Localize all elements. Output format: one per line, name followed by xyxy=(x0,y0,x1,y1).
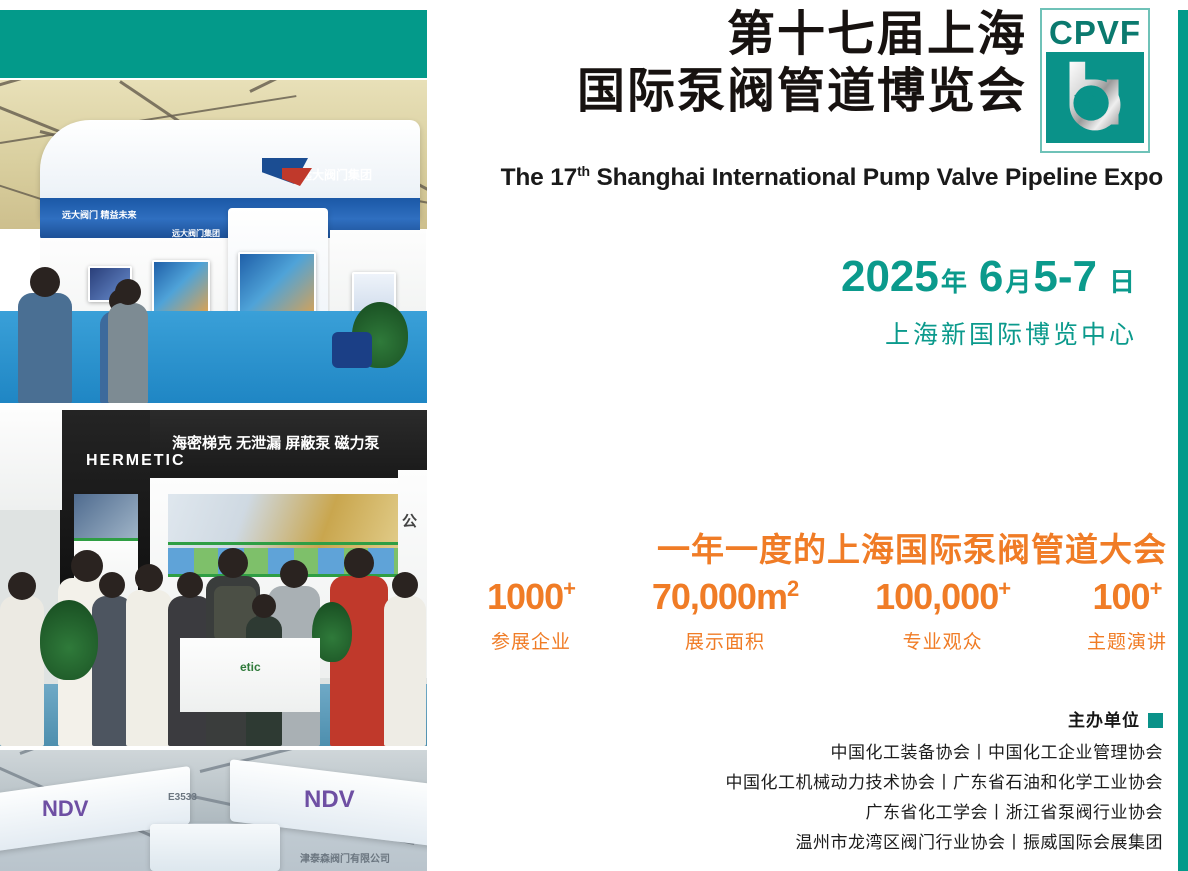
hermetic-cn-slogan: 海密梯克 无泄漏 屏蔽泵 磁力泵 xyxy=(172,435,380,452)
stat-suffix: + xyxy=(998,576,1010,601)
date-year-unit: 年 xyxy=(939,267,969,297)
content-column: CPVF xyxy=(427,0,1188,871)
photo-hermetic-booth: HERMETIC 海密梯克 无泄漏 屏蔽泵 磁力泵 公 xyxy=(0,410,427,746)
stat-talks: 100+ 主题演讲 xyxy=(1087,578,1167,654)
en-ordinal: th xyxy=(577,163,590,179)
stat-value: 1000 xyxy=(487,576,563,617)
organizer-line: 广东省化工学会丨浙江省泵阀行业协会 xyxy=(427,798,1163,828)
cpvf-logo: CPVF xyxy=(1040,8,1150,153)
date-year: 2025 xyxy=(841,252,939,301)
page-title: 第十七届上海 国际泵阀管道博览会 xyxy=(427,6,1027,119)
stat-superscript: 2 xyxy=(787,576,798,601)
stat-value: 70,000 xyxy=(652,576,756,617)
cpvf-wordmark: CPVF xyxy=(1046,14,1144,52)
photo-yuanda-valve-booth: 远大阀门集团 远大阀门 精益未来 远大阀门集团 xyxy=(0,80,427,403)
title-line-1: 第十七届上海 xyxy=(427,6,1027,63)
cpvf-mark xyxy=(1046,52,1144,143)
photo-column: 远大阀门集团 远大阀门 精益未来 远大阀门集团 xyxy=(0,0,427,871)
stat-value: 100 xyxy=(1092,576,1149,617)
stat-suffix: + xyxy=(1150,576,1162,601)
organizers-heading: 主办单位 xyxy=(427,706,1163,731)
stat-label: 专业观众 xyxy=(875,627,1010,654)
event-venue: 上海新国际博览中心 xyxy=(427,315,1137,351)
expo-poster: 远大阀门集团 远大阀门 精益未来 远大阀门集团 xyxy=(0,0,1188,871)
stat-label: 展示面积 xyxy=(652,627,798,654)
photo-ndv-booth: NDV NDV E3533 津泰森阀门有限公司 xyxy=(0,750,427,871)
date-day-unit: 日 xyxy=(1107,267,1137,297)
date-month: 6 xyxy=(979,252,1003,301)
stat-area: 70,000m2 展示面积 xyxy=(652,578,798,654)
stat-label: 主题演讲 xyxy=(1087,627,1167,654)
organizers-heading-text: 主办单位 xyxy=(1068,711,1140,731)
booth-brand-chip-2: 远大阀门集团 xyxy=(172,229,220,238)
date-days: 5-7 xyxy=(1033,252,1097,301)
booth-brand-chip: 远大阀门集团 xyxy=(300,168,372,182)
stat-unit: m xyxy=(756,576,787,617)
stat-exhibitors: 1000+ 参展企业 xyxy=(487,578,575,654)
organizers-list: 中国化工装备协会丨中国化工企业管理协会 中国化工机械动力技术协会丨广东省石油和化… xyxy=(427,738,1163,858)
counter-brand-chip: etic xyxy=(240,660,261,674)
stat-value: 100,000 xyxy=(875,576,998,617)
cpvf-b-wave-icon xyxy=(1046,52,1144,134)
stat-visitors: 100,000+ 专业观众 xyxy=(875,578,1010,654)
booth-number: E3533 xyxy=(168,792,197,803)
stat-label: 参展企业 xyxy=(487,627,575,654)
stats-row: 1000+ 参展企业 70,000m2 展示面积 100,000+ 专业观众 1… xyxy=(487,578,1167,654)
en-number: 17 xyxy=(550,164,577,191)
organizer-line: 中国化工装备协会丨中国化工企业管理协会 xyxy=(427,738,1163,768)
hermetic-wordmark: HERMETIC xyxy=(86,452,186,469)
event-slogan: 一年一度的上海国际泵阀管道大会 xyxy=(427,523,1167,571)
organizer-line: 中国化工机械动力技术协会丨广东省石油和化学工业协会 xyxy=(427,768,1163,798)
en-prefix: The xyxy=(501,164,551,191)
event-date: 2025年6月5-7日 xyxy=(427,252,1137,302)
title-line-2: 国际泵阀管道博览会 xyxy=(427,63,1027,120)
teal-header-block xyxy=(0,10,427,78)
booth-slogan-chip: 远大阀门 精益未来 xyxy=(62,210,137,220)
ndv-company-cn: 津泰森阀门有限公司 xyxy=(300,854,390,865)
english-subtitle: The 17th Shanghai International Pump Val… xyxy=(427,163,1163,192)
teal-square-icon xyxy=(1148,713,1163,728)
stat-suffix: + xyxy=(563,576,575,601)
neighbor-booth-chip: 公 xyxy=(402,513,417,530)
right-accent-bar xyxy=(1178,10,1188,871)
organizer-line: 温州市龙湾区阀门行业协会丨振威国际会展集团 xyxy=(427,828,1163,858)
ndv-wordmark-right: NDV xyxy=(304,786,355,813)
date-month-unit: 月 xyxy=(1003,267,1033,297)
en-rest: Shanghai International Pump Valve Pipeli… xyxy=(590,164,1163,191)
ndv-wordmark-left: NDV xyxy=(42,796,88,821)
